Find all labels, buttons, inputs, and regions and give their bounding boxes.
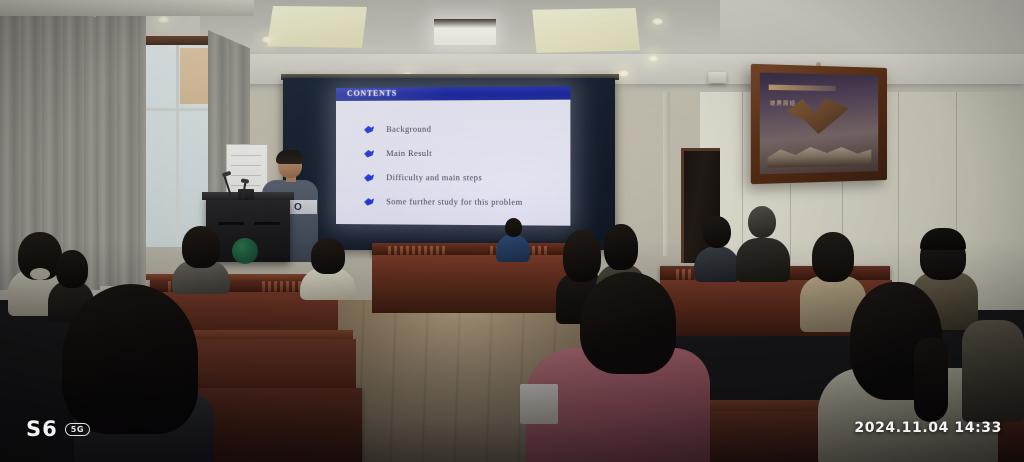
audience-head [505, 218, 522, 237]
audience-hair [56, 250, 88, 288]
artwork-title: 雄鷹展翅 [770, 99, 796, 107]
ceiling-light-panel [267, 6, 367, 48]
slide-title: CONTENTS [347, 89, 397, 98]
audience-member [172, 226, 230, 288]
eagle-icon [787, 95, 849, 137]
audience-hair [62, 284, 198, 434]
cap-icon [920, 228, 966, 250]
wall-conduit [663, 66, 670, 256]
lectern-laptop [238, 189, 254, 200]
slide-body: Background Main Result Difficulty and ma… [336, 100, 570, 226]
curtain-rail [0, 0, 254, 16]
framed-artwork: 雄鷹展翅 [751, 64, 887, 184]
audience-hair [311, 238, 345, 274]
slide-header: CONTENTS [336, 86, 570, 101]
bullet-arrow-icon [364, 149, 374, 157]
lectern-emblem [232, 238, 258, 264]
audience-torso [962, 320, 1024, 422]
audience-head [703, 216, 731, 248]
camera-watermark: S6 5G [26, 417, 90, 441]
lectern-slot [218, 222, 244, 225]
slide-bullet-row: Some further study for this problem [364, 197, 523, 207]
slide-bullet-row: Difficulty and main steps [364, 173, 482, 182]
audience-head [748, 206, 776, 238]
bench-spindles [388, 246, 458, 255]
slide-bullet-label: Background [386, 125, 431, 134]
wall-speaker-icon [708, 72, 726, 83]
ceiling-downlight-icon [618, 70, 629, 77]
audience-member [736, 206, 790, 278]
artwork-canvas: 雄鷹展翅 [760, 73, 878, 175]
curtain-middle [96, 6, 146, 286]
audience-hair [812, 232, 854, 282]
window-exterior-view [180, 48, 210, 104]
bullet-arrow-icon [364, 174, 374, 182]
audience-hair [580, 272, 676, 374]
artwork-caption-band [769, 85, 836, 91]
ceiling-downlight-icon [652, 18, 663, 25]
timestamp-watermark: 2024.11.04 14:33 [854, 420, 1002, 436]
audience-torso [736, 238, 790, 282]
ceiling-light-strip [434, 19, 496, 45]
hair-tie [30, 268, 50, 280]
audience-hair [182, 226, 220, 268]
ceiling-downlight-icon [262, 36, 273, 43]
audience-torso [694, 246, 740, 282]
artwork-rocks [767, 141, 871, 168]
ceiling-light-panel [530, 8, 640, 53]
slide-bullet-label: Difficulty and main steps [386, 173, 482, 182]
ceiling-downlight-icon [158, 16, 169, 23]
watermark-brand-label: S6 [26, 417, 58, 441]
paper-sheet [520, 384, 558, 424]
audience-hair [604, 224, 638, 270]
slide-bullet-row: Main Result [364, 149, 432, 158]
slide-bullet-row: Background [364, 125, 431, 134]
audience-member [300, 238, 356, 296]
bullet-arrow-icon [364, 125, 374, 133]
projection-screen: CONTENTS Background Main Result Difficul… [336, 86, 570, 225]
sweater-letter: O [294, 202, 303, 213]
watermark-network-badge: 5G [65, 423, 90, 436]
audience-member [496, 218, 530, 258]
bullet-arrow-icon [364, 198, 374, 206]
audience-member [694, 216, 740, 278]
ceiling-downlight-icon [648, 55, 659, 62]
audience-torso [496, 234, 530, 262]
presenter-hair [276, 150, 304, 164]
lectern-slot [254, 222, 280, 225]
lecture-hall-photo: 雄鷹展翅 CONTENTS Background Main Result Dif… [0, 0, 1024, 462]
audience-member-pink [520, 272, 710, 462]
slide-bullet-label: Main Result [386, 149, 432, 158]
window-mullion [176, 45, 179, 243]
audience-member [962, 300, 1024, 420]
slide-bullet-label: Some further study for this problem [386, 197, 523, 207]
window-header-beam [136, 36, 218, 45]
ponytail [914, 338, 948, 422]
window-mullion [142, 108, 210, 111]
